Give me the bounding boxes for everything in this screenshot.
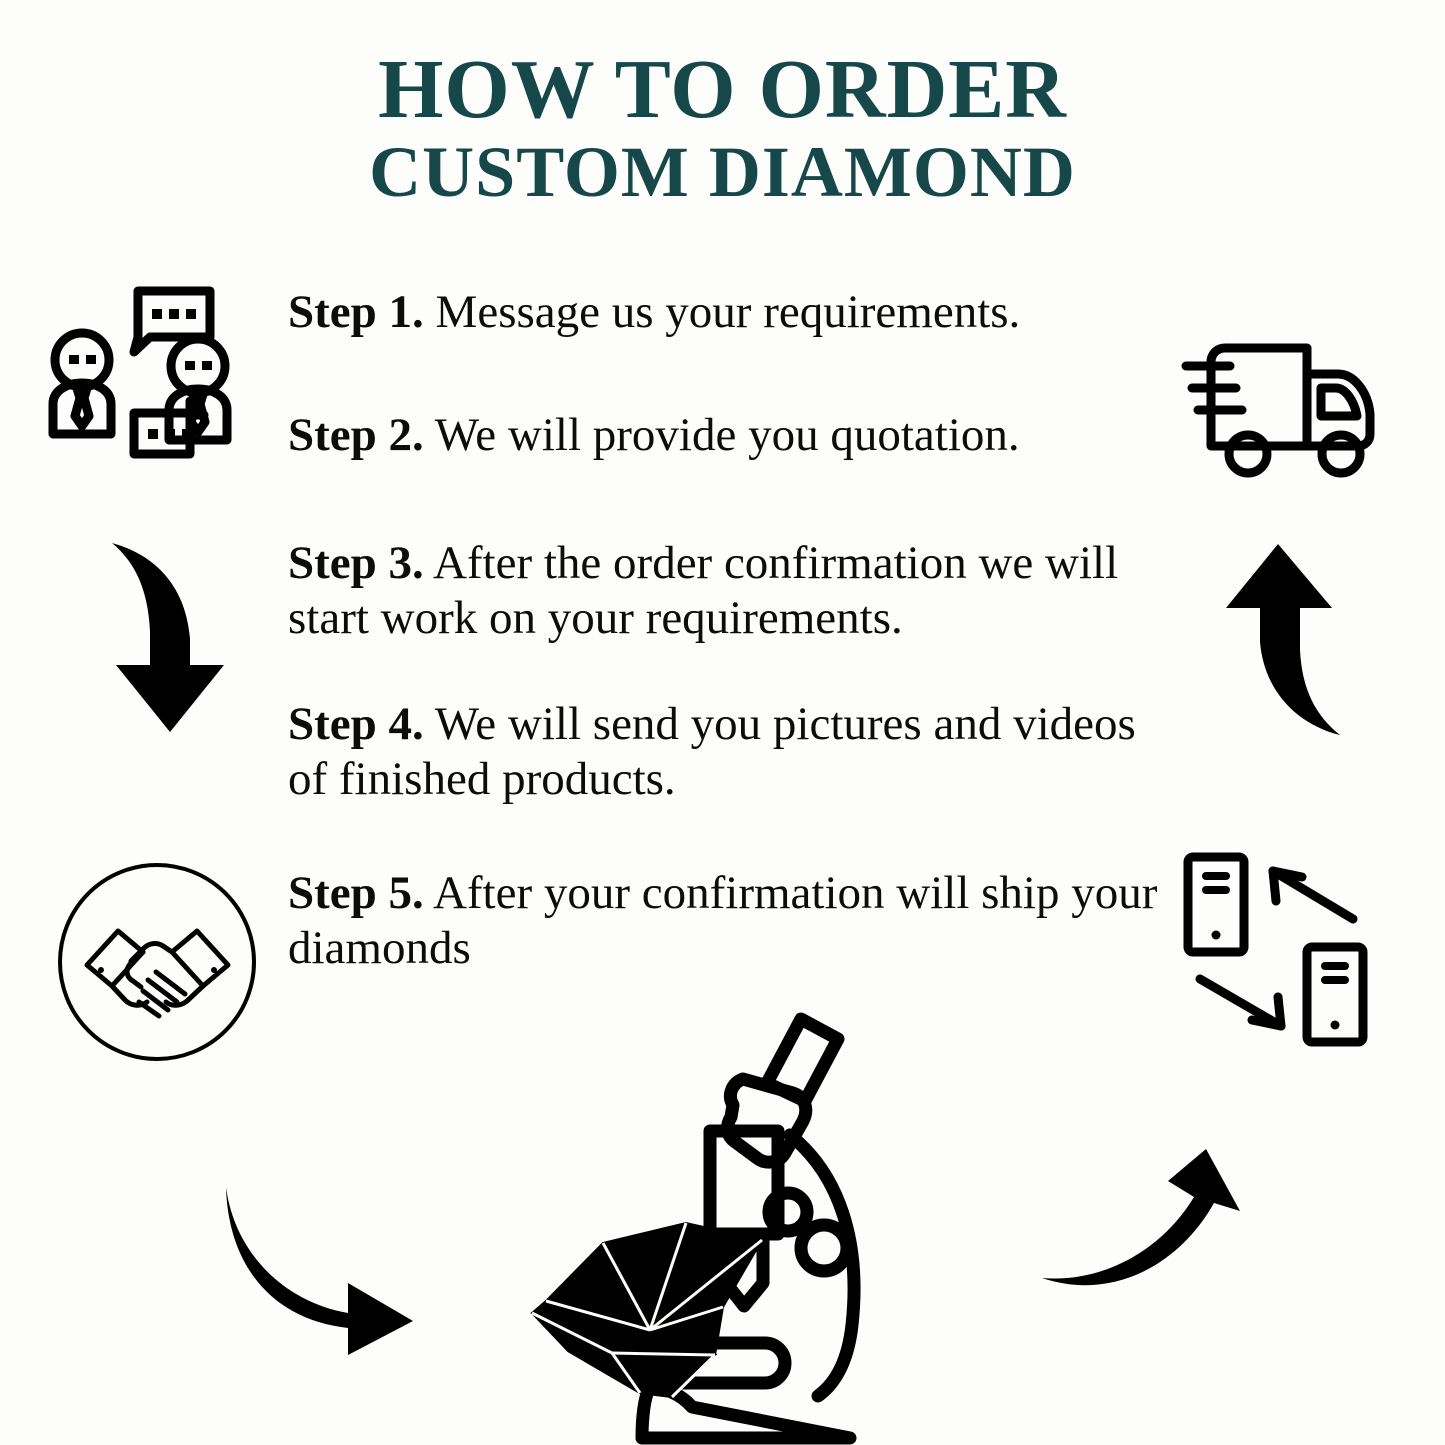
step-number-4: Step 4. [288,698,424,750]
step-text-1: Message us your requirements. [424,286,1021,338]
step-item-3: Step 3. After the order confirmation we … [288,536,1178,647]
step-item-1: Step 1. Message us your requirements. [288,285,1178,340]
title-line-2: CUSTOM DIAMOND [0,132,1445,213]
step-text-2: We will provide you quotation. [424,409,1020,461]
microscope-diamond-icon [520,995,935,1445]
people-chat-icon [38,282,253,472]
page-title: HOW TO ORDER CUSTOM DIAMOND [0,48,1445,213]
step-item-5: Step 5. After your confirmation will shi… [288,866,1178,977]
arrow-up-icon [1208,538,1373,743]
step-number-3: Step 3. [288,537,424,589]
handshake-icon [55,860,260,1065]
infographic-page: HOW TO ORDER CUSTOM DIAMOND Step 1. Mess… [0,0,1445,1445]
title-line-1: HOW TO ORDER [0,48,1445,132]
step-number-5: Step 5. [288,867,424,919]
arrow-down-icon [98,535,268,740]
arrow-curve-upright-icon [1028,1145,1258,1330]
phones-transfer-icon [1168,845,1393,1065]
step-number-2: Step 2. [288,409,424,461]
arrow-curve-right-icon [208,1183,428,1358]
step-item-4: Step 4. We will send you pictures and vi… [288,697,1178,808]
steps-list: Step 1. Message us your requirements. St… [288,285,1178,977]
step-number-1: Step 1. [288,286,424,338]
delivery-truck-icon [1178,330,1400,482]
step-item-2: Step 2. We will provide you quotation. [288,408,1178,463]
